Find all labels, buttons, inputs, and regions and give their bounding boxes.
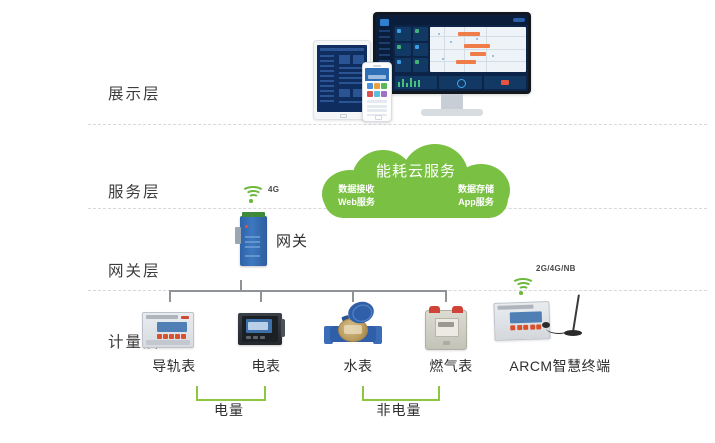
monitor-stand-neck (441, 94, 463, 110)
cloud-column-right: 数据存储 App服务 (458, 183, 494, 209)
gas-meter-icon (407, 300, 483, 354)
arcm-network-tag: 2G/4G/NB (536, 264, 576, 273)
tablet-home-button (340, 114, 347, 118)
gateway-label: 网关 (276, 230, 308, 251)
gateway-led (245, 225, 248, 228)
meter-din-rail (130, 300, 206, 356)
group-label-electrical: 电量 (189, 400, 269, 420)
gateway-device (240, 216, 267, 266)
cloud-item-data-storage: 数据存储 (458, 183, 494, 196)
phone-screen (365, 68, 389, 116)
meter-gas (407, 300, 483, 356)
dashboard-stat-cards (395, 27, 428, 72)
monitor-bezel (373, 12, 531, 94)
gateway-terminal-block (242, 212, 265, 217)
gauge-widget (439, 76, 481, 89)
dashboard-header (393, 15, 528, 25)
cloud-item-data-receive: 数据接收 (338, 183, 375, 196)
dashboard-logo-icon (380, 19, 389, 26)
phone-speaker (373, 65, 381, 67)
group-bracket-electrical (196, 386, 266, 401)
layer-label-service: 服务层 (108, 180, 198, 202)
caption-arcm-terminal: ARCM智慧终端 (500, 356, 620, 376)
alarm-widget (484, 76, 526, 89)
water-meter-icon (314, 300, 390, 354)
caption-electric-meter: 电表 (228, 356, 304, 376)
dashboard-header-badge (513, 18, 525, 22)
caption-water-meter: 水表 (320, 356, 396, 376)
din-rail-meter-icon (130, 300, 206, 354)
electric-meter-icon (222, 300, 298, 354)
tablet-screen (317, 45, 367, 112)
gateway-network-tag: 4G (268, 185, 279, 194)
wifi-icon (240, 186, 262, 204)
cloud-column-left: 数据接收 Web服务 (338, 183, 375, 209)
phone-home-button (375, 115, 382, 120)
architecture-diagram: 展示层 服务层 网关层 计量层 (0, 0, 715, 443)
group-label-non-electrical: 非电量 (356, 400, 442, 420)
phone-device (362, 62, 392, 122)
dashboard-widgets (393, 74, 528, 91)
gateway-port (235, 227, 241, 244)
dashboard-map (430, 27, 526, 72)
monitor-stand-base (421, 109, 483, 116)
caption-gas-meter: 燃气表 (413, 356, 489, 376)
chart-widget (395, 76, 437, 89)
arcm-device-icon (493, 301, 550, 341)
presentation-devices (300, 8, 545, 120)
layer-label-gateway: 网关层 (108, 259, 198, 281)
antenna-rod-icon (572, 294, 580, 332)
layer-label-presentation: 展示层 (108, 82, 198, 104)
cloud-title: 能耗云服务 (316, 160, 516, 181)
phone-app-icons (365, 81, 389, 99)
monitor-screen (376, 15, 528, 91)
cloud-item-app-service: App服务 (458, 196, 494, 209)
monitor-device (373, 12, 531, 120)
cloud-item-web-service: Web服务 (338, 196, 375, 209)
layer-separator-1 (88, 124, 707, 125)
meter-water (314, 300, 390, 356)
phone-app-header (365, 68, 389, 81)
wifi-icon (510, 278, 532, 296)
meter-electric (222, 300, 298, 356)
group-bracket-non-electrical (362, 386, 440, 401)
arcm-terminal-node: 2G/4G/NB (480, 262, 630, 368)
cloud-service-node: 能耗云服务 数据接收 Web服务 数据存储 App服务 (316, 144, 516, 218)
caption-din-rail-meter: 导轨表 (136, 356, 212, 376)
antenna-connector (542, 322, 550, 328)
